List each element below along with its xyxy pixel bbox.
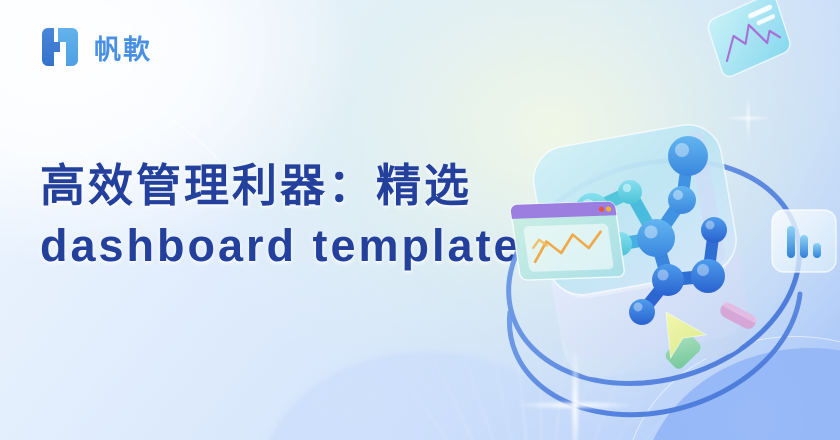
bar-chart-card xyxy=(772,210,836,272)
brand-name: 帆軟 xyxy=(94,28,152,67)
promo-banner: 帆軟 高效管理利器：精选 dashboard template推薦 xyxy=(0,0,840,440)
fanruan-logo-icon xyxy=(38,25,82,69)
line-chart-card xyxy=(706,0,792,79)
browser-window-card xyxy=(510,201,625,280)
dashboard-3d-illustration xyxy=(470,80,840,420)
brand-logo: 帆軟 xyxy=(38,25,152,69)
